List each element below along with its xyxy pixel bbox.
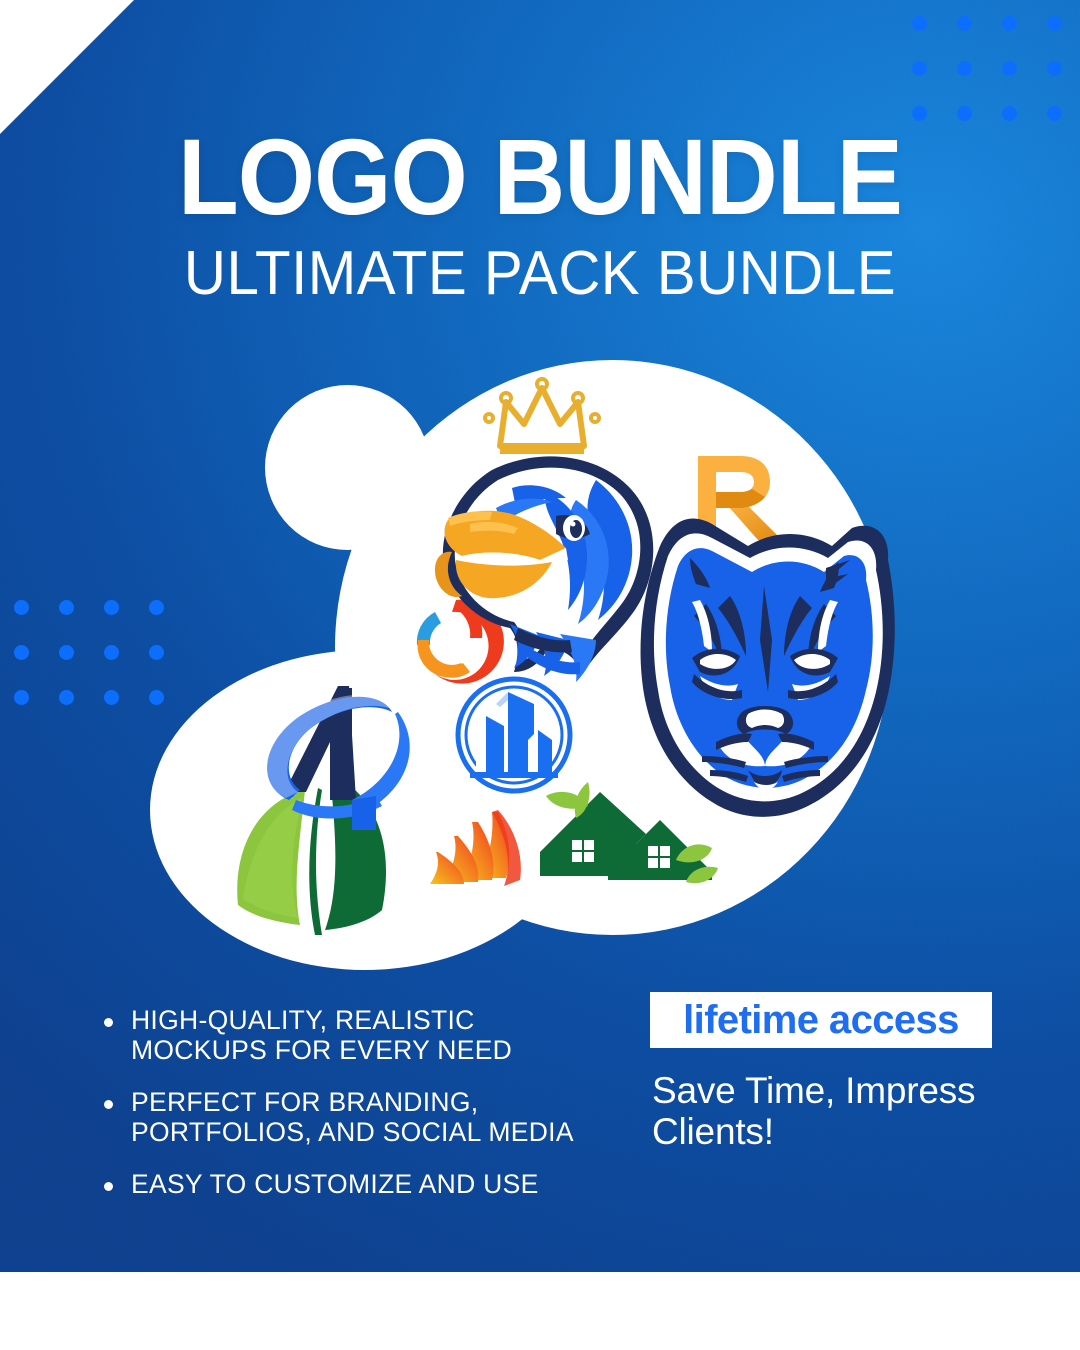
white-blob-backdrop [150, 360, 890, 970]
list-item: PERFECT FOR BRANDING, PORTFOLIOS, AND SO… [104, 1088, 574, 1148]
badge-label: lifetime access [683, 998, 959, 1043]
poster-canvas: LOGO BUNDLE ULTIMATE PACK BUNDLE [0, 0, 1080, 1350]
page-subtitle: ULTIMATE PACK BUNDLE [32, 242, 1047, 305]
list-item: HIGH-QUALITY, REALISTIC MOCKUPS FOR EVER… [104, 1006, 574, 1066]
feature-text: HIGH-QUALITY, REALISTIC MOCKUPS FOR EVER… [131, 1006, 574, 1066]
feature-text: EASY TO CUSTOMIZE AND USE [131, 1170, 539, 1200]
lifetime-access-badge: lifetime access [650, 992, 992, 1048]
dot-pattern-top-right [912, 16, 1062, 121]
headline-group: LOGO BUNDLE ULTIMATE PACK BUNDLE [0, 126, 1080, 305]
page-title: LOGO BUNDLE [43, 126, 1037, 228]
offer-tagline: Save Time, Impress Clients! [652, 1070, 1012, 1153]
bullet-dot-icon [104, 1018, 113, 1027]
bullet-dot-icon [104, 1100, 113, 1109]
dot-pattern-left [14, 600, 164, 705]
feature-text: PERFECT FOR BRANDING, PORTFOLIOS, AND SO… [131, 1088, 574, 1148]
blob-circle-medium [150, 650, 580, 970]
features-list: HIGH-QUALITY, REALISTIC MOCKUPS FOR EVER… [104, 1006, 574, 1222]
bullet-dot-icon [104, 1182, 113, 1191]
list-item: EASY TO CUSTOMIZE AND USE [104, 1170, 574, 1200]
blob-circle-small [265, 385, 430, 550]
